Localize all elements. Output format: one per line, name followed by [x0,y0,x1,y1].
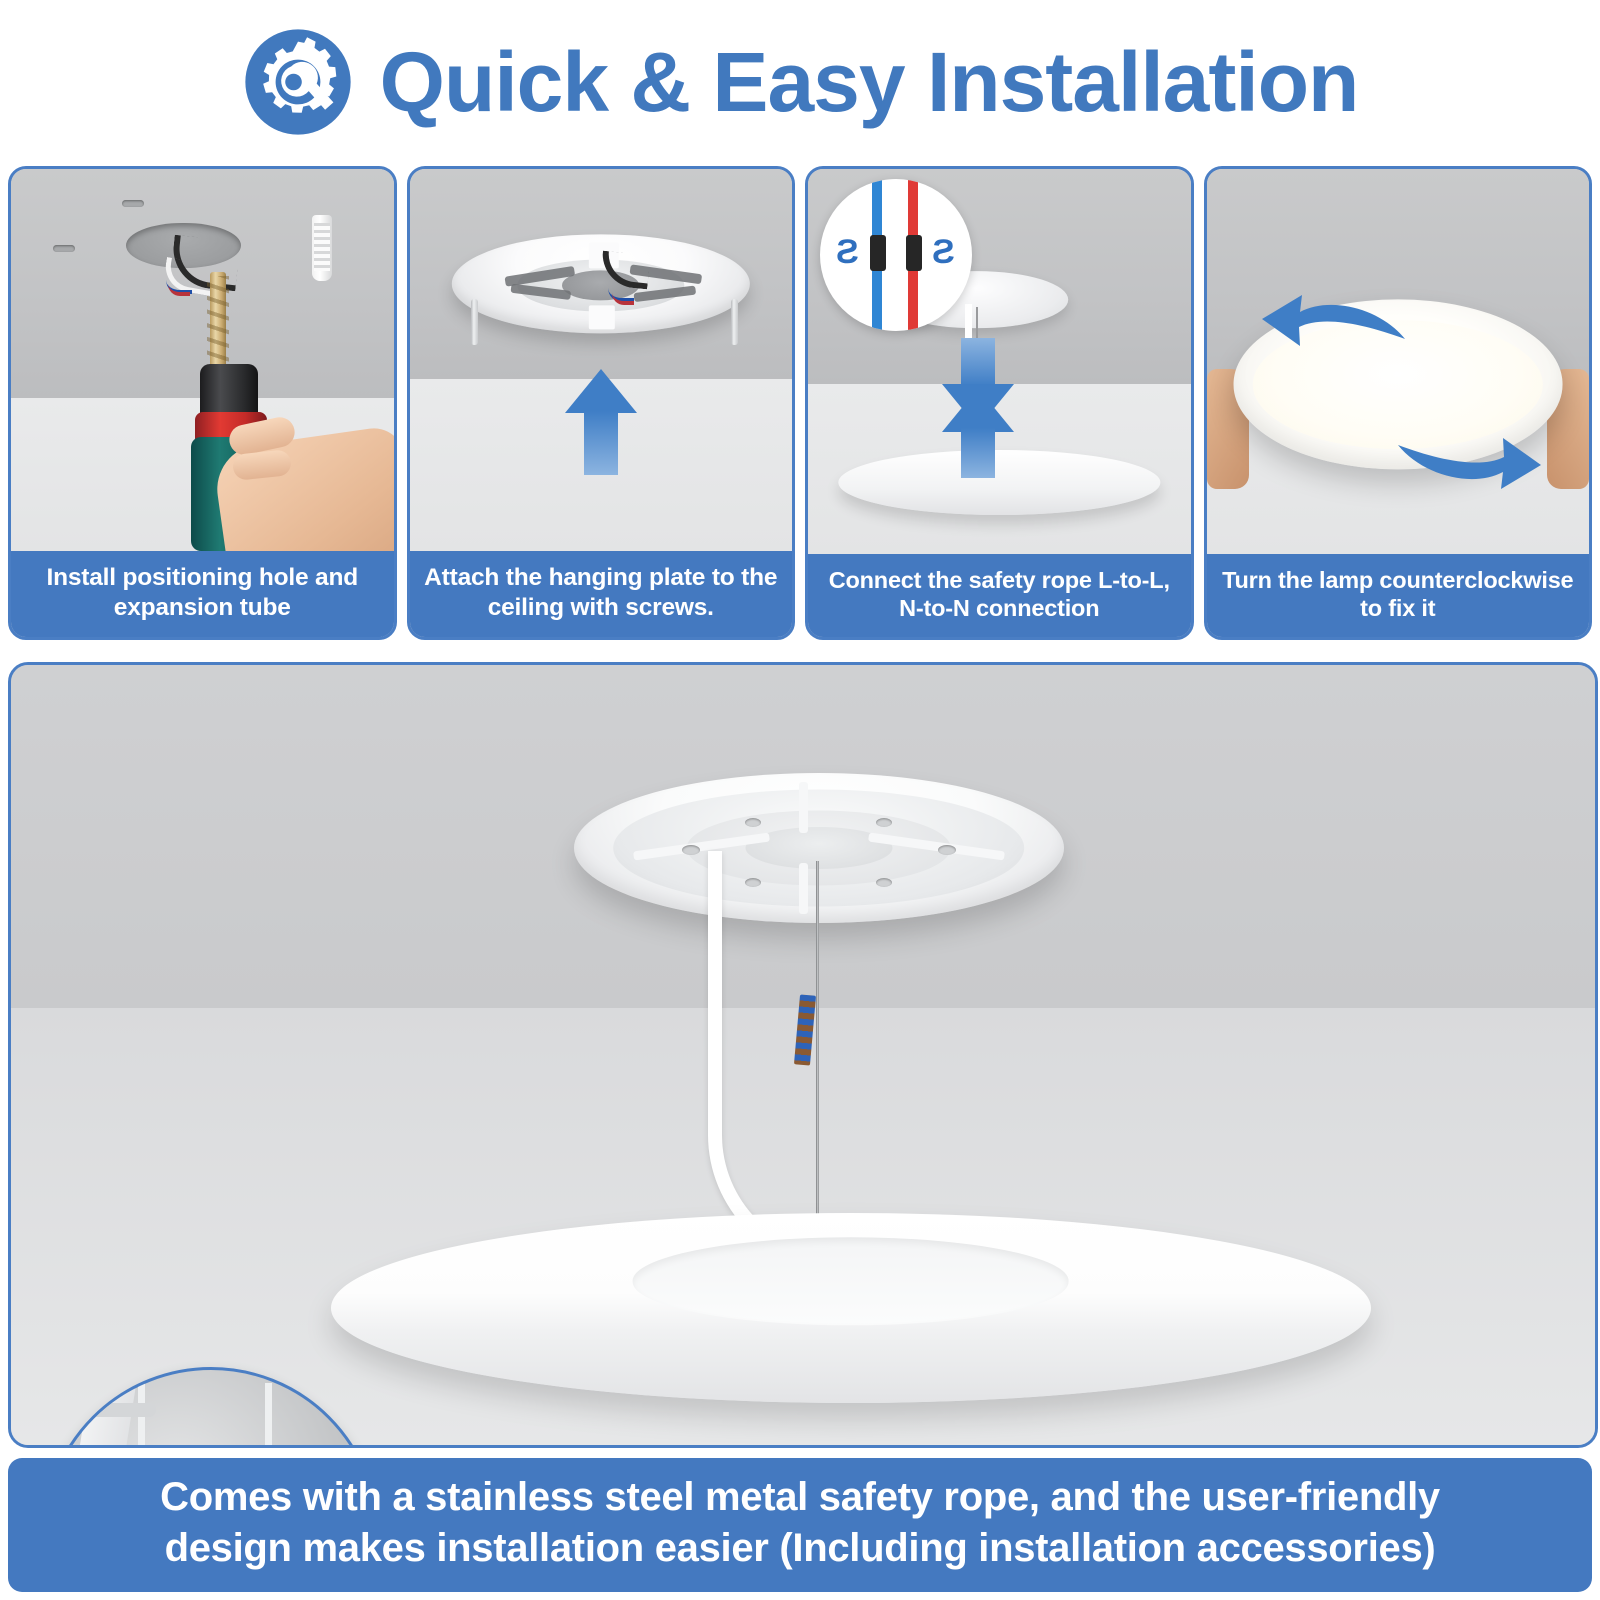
wire-connector [870,235,886,271]
step-card-1[interactable]: Install positioning hole and expansion t… [8,166,397,640]
step-1-illustration [11,169,394,551]
screw-hole [745,818,761,827]
up-arrow-icon [942,388,1014,480]
step-4-caption: Turn the lamp counterclockwise to fix it [1207,554,1590,637]
up-arrow-icon [563,369,639,479]
footer-line-2: design makes installation easier (Includ… [26,1523,1574,1574]
wire-connection-inset: S S [820,179,972,331]
step-2-illustration [410,169,793,551]
step-4-illustration [1207,169,1590,554]
power-cable [708,851,842,1269]
plate-clip [589,305,615,329]
wire-connector [906,235,922,271]
mounting-screw [471,299,478,345]
plate-spoke [799,782,808,833]
s-hook-icon: S [932,235,955,269]
step-card-3[interactable]: S S Connect the safety rope L-to-L, N-to… [805,166,1194,640]
expansion-tube [312,215,332,281]
screw-hole [876,878,892,887]
page-title: Quick & Easy Installation [380,40,1359,124]
footer-line-1: Comes with a stainless steel metal safet… [26,1472,1574,1523]
footer-caption: Comes with a stainless steel metal safet… [8,1458,1592,1592]
step-1-caption: Install positioning hole and expansion t… [11,551,394,637]
step-2-caption: Attach the hanging plate to the ceiling … [410,551,793,637]
screw-hole [876,818,892,827]
lamp-mount-recess [632,1238,1069,1325]
step-3-caption: Connect the safety rope L-to-L, N-to-N c… [808,554,1191,637]
screw-hole [682,845,700,855]
mounting-screw [731,299,738,345]
hanging-plate [452,234,750,333]
ceiling-slot-left [122,200,144,207]
ceiling-slot-right [53,245,75,252]
rotate-arrow-right-icon [1393,432,1543,492]
steps-row: Install positioning hole and expansion t… [8,166,1592,640]
step-3-illustration: S S [808,169,1191,554]
step-card-4[interactable]: Turn the lamp counterclockwise to fix it [1204,166,1593,640]
plate-slot [86,1403,156,1417]
hero-illustration [8,662,1598,1448]
page-header: Quick & Easy Installation [0,22,1600,142]
safety-rope-hook [138,1383,272,1448]
gear-wrench-icon [242,26,354,138]
lamp-panel [331,1213,1371,1403]
step-card-2[interactable]: Attach the hanging plate to the ceiling … [407,166,796,640]
s-hook-icon: S [836,235,859,269]
rotate-arrow-left-icon [1260,292,1410,352]
infographic-page: Quick & Easy Installation [0,0,1600,1600]
